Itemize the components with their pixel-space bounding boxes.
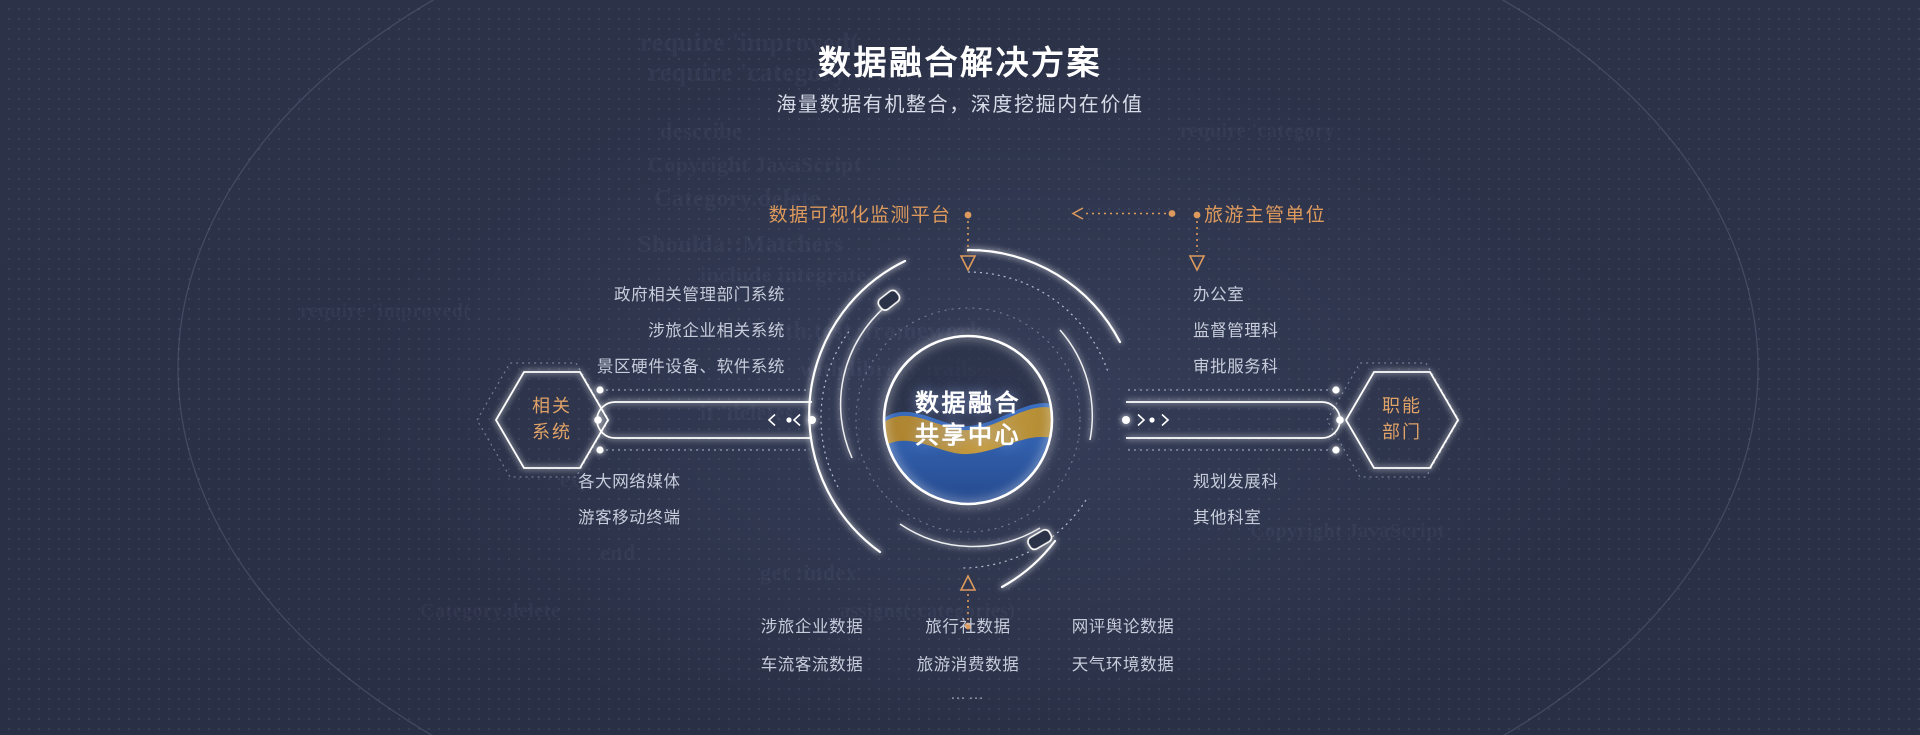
left-label-network-media: 各大网络媒体: [578, 468, 681, 492]
right-label-supervision-dept: 监督管理科: [1193, 317, 1279, 341]
top-node-visualization-platform[interactable]: 数据可视化监测平台: [769, 200, 952, 227]
bottom-ellipsis: ……: [950, 686, 986, 704]
left-label-tourism-enterprise-systems: 涉旅企业相关系统: [648, 317, 785, 341]
hexagon-left-line2: 系统: [532, 422, 572, 442]
right-label-approval-service-dept: 审批服务科: [1193, 353, 1279, 377]
bottom-label-enterprise-data: 涉旅企业数据: [761, 613, 864, 637]
bottom-label-online-review-data: 网评舆论数据: [1072, 613, 1175, 637]
page-title: 数据融合解决方案: [0, 36, 1920, 84]
core-line2: 共享中心: [915, 422, 1021, 449]
hexagon-left-label: 相关 系统: [532, 394, 572, 445]
hexagon-right-line1: 职能: [1382, 396, 1422, 416]
bottom-label-weather-environment-data: 天气环境数据: [1072, 651, 1175, 675]
right-label-other-depts: 其他科室: [1193, 504, 1261, 528]
left-label-tourist-mobile-terminal: 游客移动终端: [578, 504, 681, 528]
hexagon-left-line1: 相关: [532, 396, 572, 416]
hexagon-right-line2: 部门: [1382, 422, 1422, 442]
right-label-office: 办公室: [1193, 281, 1244, 305]
core-line1: 数据融合: [915, 390, 1021, 417]
bottom-label-traffic-flow-data: 车流客流数据: [761, 651, 864, 675]
bottom-label-tourism-consumption-data: 旅游消费数据: [917, 651, 1020, 675]
page-subtitle: 海量数据有机整合，深度挖掘内在价值: [0, 88, 1920, 117]
core-label: 数据融合 共享中心: [915, 388, 1021, 451]
left-label-scenic-hardware-software: 景区硬件设备、软件系统: [597, 353, 785, 377]
bottom-label-travel-agency-data: 旅行社数据: [925, 613, 1011, 637]
hexagon-right-label: 职能 部门: [1382, 394, 1422, 445]
right-label-planning-dev-dept: 规划发展科: [1193, 468, 1279, 492]
top-node-tourism-authority[interactable]: 旅游主管单位: [1204, 200, 1326, 227]
left-label-government-systems: 政府相关管理部门系统: [614, 281, 785, 305]
